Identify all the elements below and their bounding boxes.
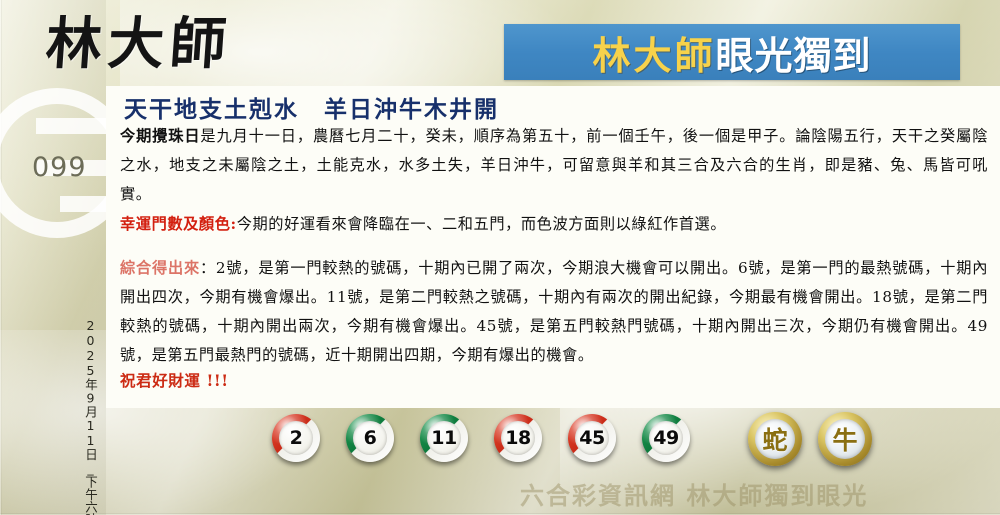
lottery-ball-face: 6	[353, 421, 387, 455]
wish-text: 祝君好財運 !!!	[120, 371, 229, 390]
lottery-ball-number: 6	[364, 427, 377, 449]
lucky-body: 今期的好運看來會降臨在一、二和五門，而色波方面則以綠紅作首選。	[237, 215, 726, 233]
lottery-tip-poster: 099 林大師 林大師 眼光獨到 天干地支土剋水 羊日沖牛木井開 今期攪珠日是九…	[0, 0, 1000, 515]
banner-slogan-text: 眼光獨到	[716, 25, 872, 80]
article-panel: 天干地支土剋水 羊日沖牛木井開 今期攪珠日是九月十一日，農曆七月二十，癸未，順序…	[106, 86, 1000, 408]
lottery-ball-number: 18	[505, 427, 530, 449]
lottery-ball[interactable]: 49	[642, 414, 690, 462]
paragraph-main-lead: 今期攪珠日	[120, 127, 200, 145]
lottery-ball-face: 45	[575, 421, 609, 455]
banner-brand-text: 林大師	[592, 25, 715, 80]
lottery-ball-number: 11	[431, 427, 456, 449]
lucky-label: 幸運門數及顏色:	[120, 215, 237, 233]
lottery-ball-number: 49	[653, 427, 678, 449]
paragraph-main: 今期攪珠日是九月十一日，農曆七月二十，癸未，順序為第五十，前一個壬午，後一個是甲…	[120, 122, 988, 209]
lottery-ball-face: 18	[501, 421, 535, 455]
brand-logo: 林大師	[44, 16, 234, 72]
header-banner: 林大師 眼光獨到	[504, 24, 960, 80]
lottery-ball-number: 45	[579, 427, 604, 449]
lottery-ball[interactable]: 18	[494, 414, 542, 462]
lottery-ball-number: 2	[290, 427, 303, 449]
zodiac-medal-ox[interactable]: 牛	[818, 412, 872, 466]
zodiac-medal-face: 牛	[825, 419, 865, 459]
zodiac-medal-snake[interactable]: 蛇	[748, 412, 802, 466]
paragraph-wish: 祝君好財運 !!!	[120, 366, 988, 396]
summary-label: 綜合得出來	[120, 259, 200, 277]
lottery-ball[interactable]: 45	[568, 414, 616, 462]
lottery-ball[interactable]: 2	[272, 414, 320, 462]
paragraph-summary: 綜合得出來：2號，是第一門較熱的號碼，十期內已開了兩次，今期浪大機會可以開出。6…	[120, 254, 988, 370]
lottery-ball-row: 2 6 11 18 45 49	[272, 414, 690, 462]
lottery-ball-face: 49	[649, 421, 683, 455]
zodiac-glyph: 牛	[832, 421, 857, 457]
zodiac-medal-row: 蛇 牛	[748, 412, 872, 466]
lottery-ball-face: 2	[279, 421, 313, 455]
bottom-watermark-text: 六合彩資訊網 林大師獨到眼光	[520, 476, 868, 511]
zodiac-medal-face: 蛇	[755, 419, 795, 459]
summary-body: ：2號，是第一門較熱的號碼，十期內已開了兩次，今期浪大機會可以開出。6號，是第一…	[120, 259, 988, 364]
zodiac-glyph: 蛇	[762, 421, 787, 457]
paragraph-main-body: 是九月十一日，農曆七月二十，癸未，順序為第五十，前一個壬午，後一個是甲子。論陰陽…	[120, 127, 988, 203]
lottery-ball[interactable]: 11	[420, 414, 468, 462]
paragraph-lucky: 幸運門數及顏色:今期的好運看來會降臨在一、二和五門，而色波方面則以綠紅作首選。	[120, 210, 988, 239]
lottery-ball[interactable]: 6	[346, 414, 394, 462]
page-title: 天干地支土剋水 羊日沖牛木井開	[124, 90, 499, 124]
lottery-ball-face: 11	[427, 421, 461, 455]
update-date-strip: 2025年9月11日_下午六時更新	[78, 318, 100, 508]
